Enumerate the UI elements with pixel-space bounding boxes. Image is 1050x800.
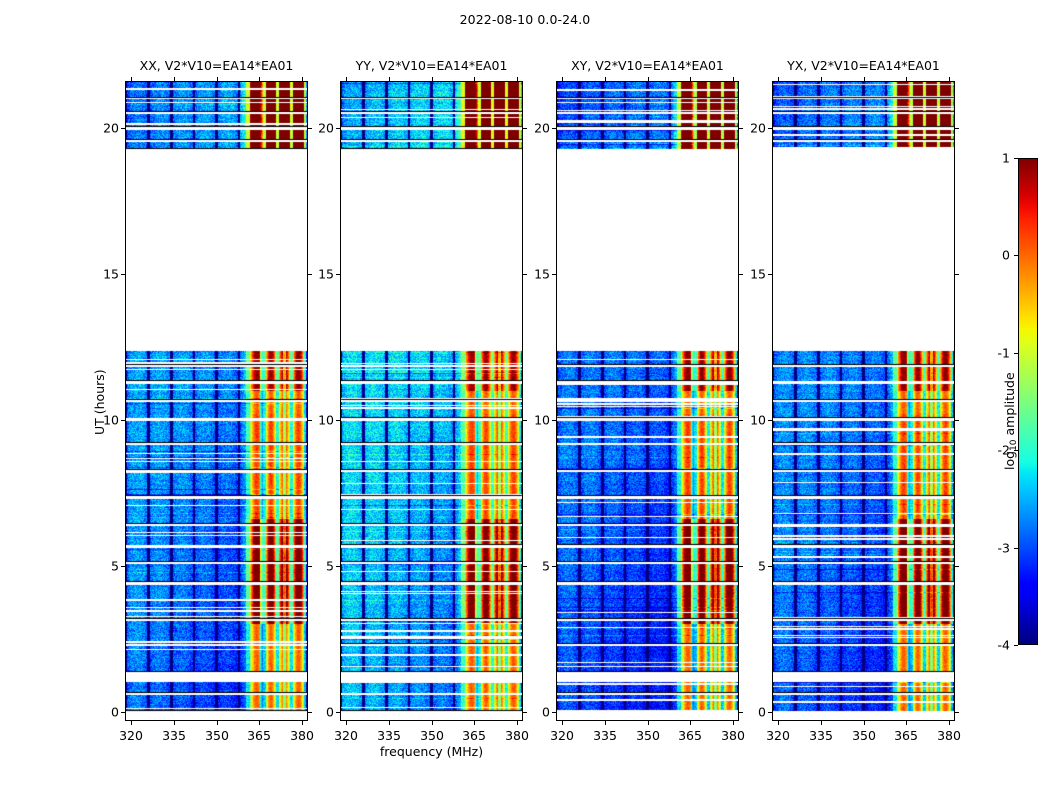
y-tick-mark-right <box>955 420 959 421</box>
x-tick-label: 335 <box>162 728 186 743</box>
y-tick-mark <box>336 712 340 713</box>
spectrum-panel-xy[interactable] <box>556 81 739 721</box>
x-tick-mark-top <box>217 77 218 81</box>
x-tick-mark-top <box>131 77 132 81</box>
y-tick-label: 5 <box>302 559 334 574</box>
x-tick-label: 320 <box>550 728 574 743</box>
x-tick-mark <box>562 721 563 725</box>
x-tick-mark <box>949 721 950 725</box>
x-tick-mark-top <box>562 77 563 81</box>
x-tick-label: 350 <box>852 728 876 743</box>
x-tick-label: 365 <box>894 728 918 743</box>
x-tick-label: 365 <box>678 728 702 743</box>
x-tick-mark-top <box>648 77 649 81</box>
figure-canvas: 2022-08-10 0.0-24.0 XX, V2*V10=EA14*EA01… <box>0 0 1050 800</box>
y-tick-mark <box>121 566 125 567</box>
x-tick-label: 380 <box>721 728 745 743</box>
x-tick-mark <box>217 721 218 725</box>
x-tick-mark <box>174 721 175 725</box>
x-tick-label: 335 <box>809 728 833 743</box>
x-tick-mark <box>432 721 433 725</box>
x-tick-label: 320 <box>334 728 358 743</box>
y-tick-label: 15 <box>518 267 550 282</box>
y-tick-label: 20 <box>87 121 119 136</box>
x-tick-mark-top <box>864 77 865 81</box>
x-tick-mark <box>474 721 475 725</box>
x-tick-mark <box>648 721 649 725</box>
spectrum-panel-xx[interactable] <box>125 81 308 721</box>
x-tick-label: 350 <box>205 728 229 743</box>
panel-title-yy: YY, V2*V10=EA14*EA01 <box>340 58 523 76</box>
x-tick-mark-top <box>346 77 347 81</box>
x-tick-label: 380 <box>937 728 961 743</box>
colorbar-tick-mark <box>1014 645 1018 646</box>
x-tick-mark-top <box>906 77 907 81</box>
x-axis-label: frequency (MHz) <box>332 744 532 759</box>
y-tick-mark <box>121 712 125 713</box>
y-tick-mark-right <box>955 566 959 567</box>
x-tick-label: 350 <box>420 728 444 743</box>
x-tick-mark-top <box>174 77 175 81</box>
y-tick-mark <box>121 128 125 129</box>
y-tick-mark <box>768 566 772 567</box>
x-tick-mark <box>733 721 734 725</box>
waterfall-image-xy <box>557 82 738 720</box>
x-tick-label: 380 <box>290 728 314 743</box>
y-tick-label: 15 <box>734 267 766 282</box>
y-tick-label: 15 <box>87 267 119 282</box>
x-tick-label: 365 <box>462 728 486 743</box>
colorbar[interactable] <box>1018 158 1038 645</box>
spectrum-panel-yx[interactable] <box>772 81 955 721</box>
y-tick-label: 10 <box>518 413 550 428</box>
x-tick-mark-top <box>432 77 433 81</box>
panel-title-xy: XY, V2*V10=EA14*EA01 <box>556 58 739 76</box>
y-tick-label: 20 <box>302 121 334 136</box>
colorbar-tick-label: -3 <box>978 541 1010 556</box>
y-tick-label: 10 <box>734 413 766 428</box>
y-tick-mark <box>552 420 556 421</box>
y-tick-mark <box>768 712 772 713</box>
y-tick-mark-right <box>955 274 959 275</box>
x-tick-mark-top <box>517 77 518 81</box>
colorbar-tick-mark <box>1014 353 1018 354</box>
x-tick-mark <box>821 721 822 725</box>
x-tick-mark <box>690 721 691 725</box>
y-tick-label: 5 <box>87 559 119 574</box>
colorbar-tick-label: -4 <box>978 638 1010 653</box>
y-tick-mark <box>768 420 772 421</box>
y-tick-mark <box>336 274 340 275</box>
x-tick-mark <box>864 721 865 725</box>
colorbar-tick-mark <box>1014 255 1018 256</box>
y-tick-mark <box>768 274 772 275</box>
figure-suptitle: 2022-08-10 0.0-24.0 <box>0 12 1050 27</box>
spectrum-panel-yy[interactable] <box>340 81 523 721</box>
y-tick-label: 20 <box>734 121 766 136</box>
y-tick-label: 0 <box>734 705 766 720</box>
x-tick-mark-top <box>605 77 606 81</box>
waterfall-image-xx <box>126 82 307 720</box>
y-tick-label: 20 <box>518 121 550 136</box>
y-tick-label: 0 <box>302 705 334 720</box>
y-tick-mark <box>121 420 125 421</box>
colorbar-tick-label: 1 <box>978 151 1010 166</box>
x-tick-label: 350 <box>636 728 660 743</box>
y-tick-mark-right <box>955 712 959 713</box>
colorbar-gradient <box>1019 159 1037 644</box>
y-tick-label: 10 <box>87 413 119 428</box>
x-tick-mark <box>906 721 907 725</box>
x-tick-mark-top <box>259 77 260 81</box>
x-tick-mark <box>605 721 606 725</box>
panel-title-xx: XX, V2*V10=EA14*EA01 <box>125 58 308 76</box>
x-tick-mark-top <box>733 77 734 81</box>
y-tick-mark <box>552 128 556 129</box>
colorbar-tick-label: 0 <box>978 248 1010 263</box>
x-tick-mark <box>517 721 518 725</box>
panel-title-yx: YX, V2*V10=EA14*EA01 <box>772 58 955 76</box>
y-tick-label: 15 <box>302 267 334 282</box>
colorbar-tick-mark <box>1014 158 1018 159</box>
x-tick-mark-top <box>690 77 691 81</box>
x-tick-mark-top <box>949 77 950 81</box>
x-tick-mark <box>131 721 132 725</box>
y-tick-label: 0 <box>87 705 119 720</box>
x-tick-mark <box>778 721 779 725</box>
x-tick-mark-top <box>474 77 475 81</box>
y-tick-label: 10 <box>302 413 334 428</box>
x-tick-mark-top <box>821 77 822 81</box>
y-tick-mark <box>552 712 556 713</box>
x-tick-label: 320 <box>766 728 790 743</box>
x-tick-label: 365 <box>247 728 271 743</box>
x-tick-mark <box>346 721 347 725</box>
colorbar-label: log10 amplitude <box>1002 372 1019 470</box>
x-tick-label: 335 <box>593 728 617 743</box>
y-tick-mark-right <box>955 128 959 129</box>
y-tick-label: 0 <box>518 705 550 720</box>
x-tick-label: 380 <box>505 728 529 743</box>
y-tick-label: 5 <box>518 559 550 574</box>
x-tick-mark <box>302 721 303 725</box>
x-tick-mark-top <box>302 77 303 81</box>
waterfall-image-yx <box>773 82 954 720</box>
y-tick-mark <box>336 420 340 421</box>
x-tick-label: 320 <box>119 728 143 743</box>
x-tick-mark-top <box>389 77 390 81</box>
y-tick-label: 5 <box>734 559 766 574</box>
waterfall-image-yy <box>341 82 522 720</box>
x-tick-mark-top <box>778 77 779 81</box>
y-tick-mark <box>552 274 556 275</box>
y-tick-mark <box>121 274 125 275</box>
colorbar-tick-mark <box>1014 548 1018 549</box>
colorbar-tick-label: -1 <box>978 346 1010 361</box>
y-tick-mark <box>336 128 340 129</box>
x-tick-mark <box>389 721 390 725</box>
y-tick-mark <box>336 566 340 567</box>
y-tick-mark <box>768 128 772 129</box>
x-tick-mark <box>259 721 260 725</box>
x-tick-label: 335 <box>377 728 401 743</box>
y-tick-mark <box>552 566 556 567</box>
